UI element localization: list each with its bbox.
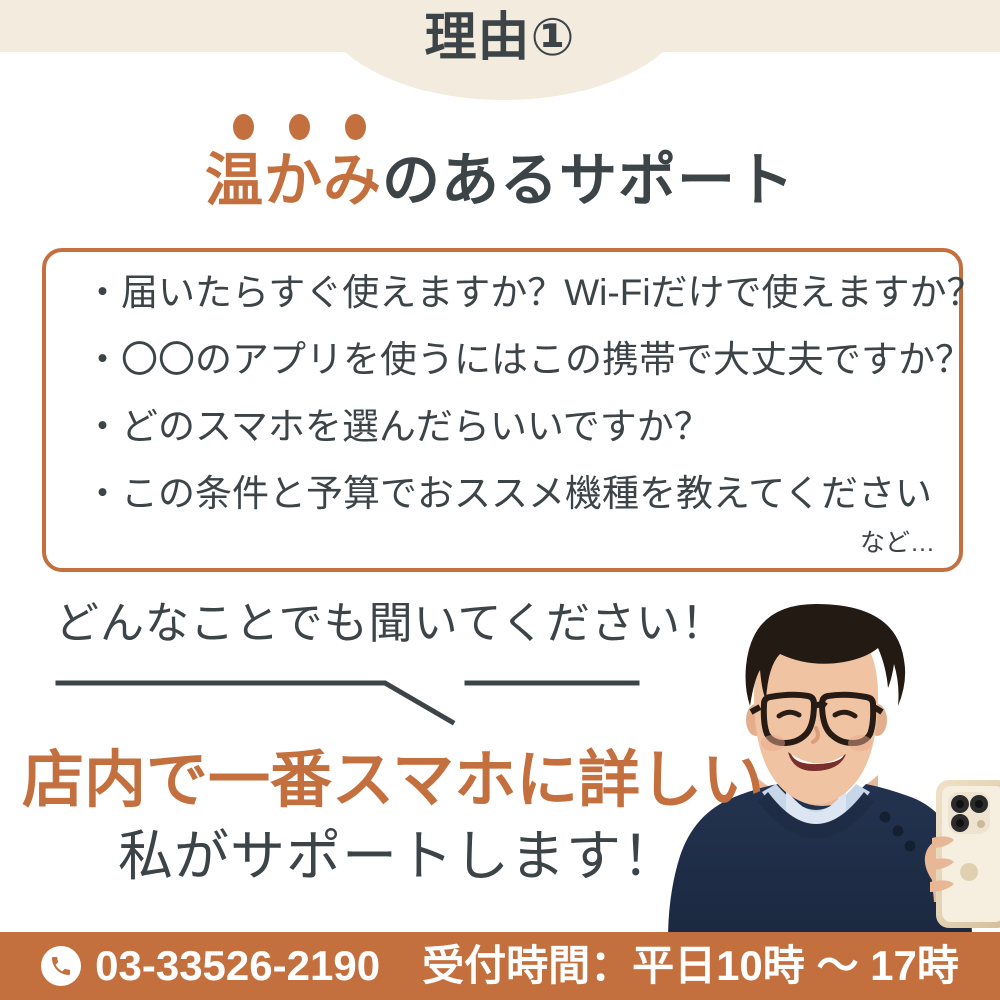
question-box: ・届いたらすぐ使えますか？Wi-Fiだけで使えますか？ ・〇〇のアプリを使うには…: [42, 248, 963, 572]
business-hours: 受付時間：平日10時 ～ 17時: [422, 945, 959, 987]
subtitle-accent: 温かみ: [205, 148, 382, 213]
phone-handset-icon: [41, 946, 81, 986]
speech-bubble-tail-divider-icon: [40, 660, 680, 740]
list-item: ・〇〇のアプリを使うにはこの携帯で大丈夫ですか？: [84, 341, 941, 378]
three-dots-icon: [0, 114, 1000, 142]
dot-1: [233, 114, 254, 140]
dot-3: [345, 114, 366, 140]
contact-footer: 03-33526-2190 受付時間：平日10時 ～ 17時: [0, 932, 1000, 1000]
invite-text: どんなことでも聞いてください！: [55, 600, 726, 648]
question-list: ・届いたらすぐ使えますか？Wi-Fiだけで使えますか？ ・〇〇のアプリを使うには…: [84, 274, 941, 542]
banner-title: 理由①: [0, 12, 1000, 64]
list-item: ・この条件と予算でおススメ機種を教えてください: [84, 475, 941, 512]
phone-number[interactable]: 03-33526-2190: [95, 945, 380, 987]
etcetera-label: など…: [860, 531, 935, 556]
page-subtitle: 私がサポートします！: [118, 828, 678, 886]
dot-2: [289, 114, 310, 140]
promo-graphic: 理由① 温かみのあるサポート ・届いたらすぐ使えますか？Wi-Fiだけで使えます…: [0, 0, 1000, 1000]
list-item: ・どのスマホを選んだらいいですか？: [84, 408, 941, 445]
page-title: 店内で一番スマホに詳しい: [22, 748, 764, 813]
subtitle-rest: のあるサポート: [382, 148, 795, 213]
subtitle: 温かみのあるサポート: [0, 148, 1000, 215]
list-item: ・届いたらすぐ使えますか？Wi-Fiだけで使えますか？: [84, 274, 941, 311]
